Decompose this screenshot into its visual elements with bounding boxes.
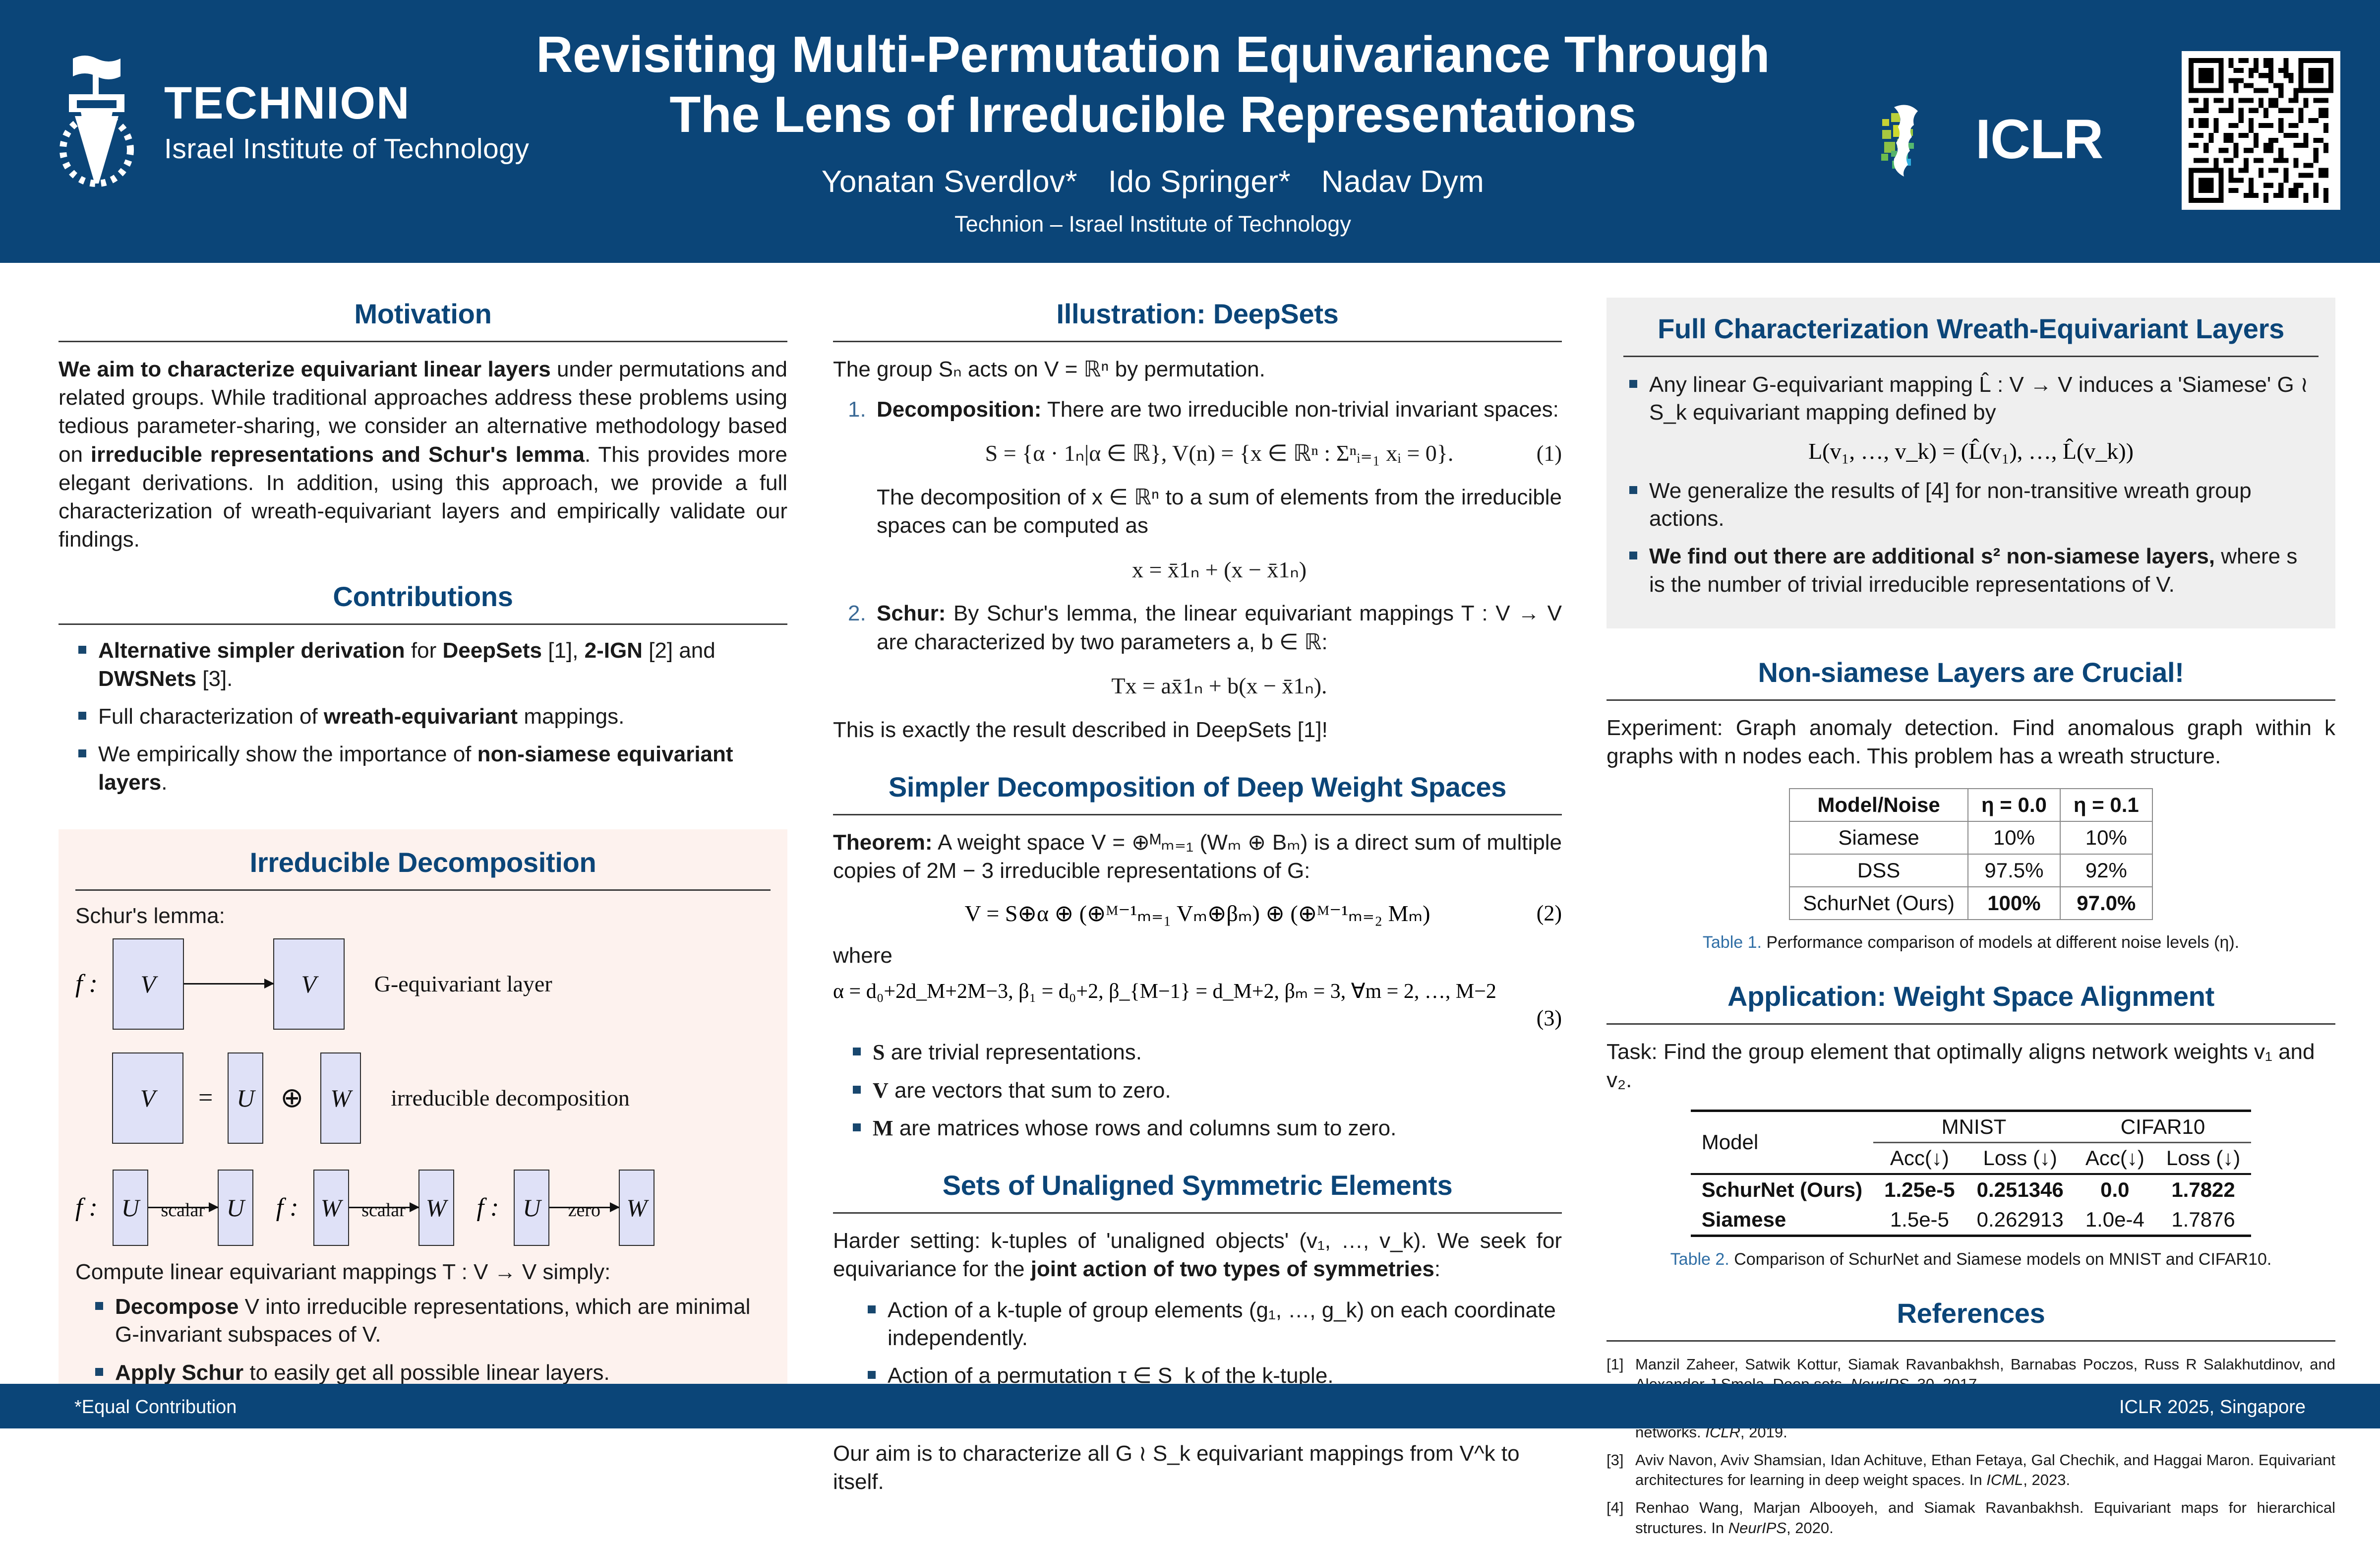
row2-note: irreducible decomposition — [391, 1085, 630, 1111]
cell-value: 97.5% — [1968, 854, 2060, 887]
sub-acc-cifar: Acc(↓) — [2075, 1142, 2155, 1174]
contrib-bold: wreath-equivariant — [324, 704, 518, 729]
contrib-text: . — [161, 770, 167, 795]
box-u: U — [228, 1052, 263, 1144]
reference-item: [4]Renhao Wang, Marjan Albooyeh, and Sia… — [1606, 1498, 2335, 1538]
list-item: We empirically show the importance of no… — [78, 741, 787, 797]
table-2-caption: Table 2. Comparison of SchurNet and Siam… — [1606, 1250, 2335, 1269]
iclr-logo: ICLR — [1874, 99, 2103, 179]
list-item: Schur: By Schur's lemma, the linear equi… — [848, 599, 1562, 700]
simpler-bullets: S are trivial representations. V are vec… — [833, 1039, 1562, 1142]
arrow-label: scalar — [361, 1199, 406, 1221]
contributions-list: Alternative simpler derivation for DeepS… — [59, 637, 787, 797]
theorem-label: Theorem: — [833, 830, 932, 855]
intro-bold: joint action of two types of symmetries — [1031, 1257, 1434, 1281]
sub-loss-cifar: Loss (↓) — [2155, 1142, 2251, 1174]
equation-text: Tx = ax̄1ₙ + b(x − x̄1ₙ). — [1111, 673, 1327, 698]
qr-code[interactable] — [2182, 51, 2340, 210]
bullet-bold: We find out there are additional s² non-… — [1649, 544, 2215, 568]
cell-value: 1.0e-4 — [2075, 1205, 2155, 1236]
cell-value: 10% — [2060, 821, 2152, 854]
equation-1: S = {α · 1ₙ|α ∈ ℝ}, V(n) = {x ∈ ℝⁿ : Σⁿᵢ… — [877, 438, 1562, 468]
list-item: We generalize the results of [4] for non… — [1629, 477, 2319, 533]
section-unaligned: Sets of Unaligned Symmetric Elements Har… — [833, 1169, 1562, 1496]
oplus-icon: ⊕ — [280, 1082, 303, 1114]
unaligned-closing-2: Our aim is to characterize all G ≀ S_k e… — [833, 1439, 1562, 1496]
list-item: V are vectors that sum to zero. — [853, 1077, 1562, 1105]
divider — [833, 341, 1562, 342]
equation-number: (1) — [1537, 439, 1562, 468]
bullet-bold: Apply Schur — [115, 1360, 243, 1385]
deepsets-closing: This is exactly the result described in … — [833, 716, 1562, 744]
f-label: f : — [75, 969, 98, 998]
cell-value: 100% — [1968, 887, 2060, 920]
equation-full-char: L(v₁, …, v_k) = (L̂(v₁), …, L̂(v_k)) — [1623, 438, 2319, 464]
table-weight-alignment: Model MNIST CIFAR10 Acc(↓) Loss (↓) Acc(… — [1691, 1110, 2251, 1237]
col-model-noise: Model/Noise — [1789, 789, 1968, 821]
middle-column: Illustration: DeepSets The group Sₙ acts… — [833, 298, 1562, 1496]
col-eta-01: η = 0.1 — [2060, 789, 2152, 821]
f-label: f : — [75, 1193, 98, 1222]
reference-item: [3]Aviv Navon, Aviv Shamsian, Idan Achit… — [1606, 1450, 2335, 1490]
equation-text: V = S⊕α ⊕ (⊕ᴹ⁻¹ₘ₌₁ Vₘ⊕βₘ) ⊕ (⊕ᴹ⁻¹ₘ₌₂ Mₘ) — [964, 901, 1430, 926]
irreducible-title: Irreducible Decomposition — [75, 846, 771, 878]
right-column: Full Characterization Wreath-Equivariant… — [1606, 298, 2335, 1546]
equation-text: L(v₁, …, v_k) = (L̂(v₁), …, L̂(v_k)) — [1808, 438, 2134, 464]
caption-number: Table 1. — [1703, 933, 1762, 952]
group-mnist: MNIST — [1873, 1111, 2075, 1142]
box-v: V — [112, 1052, 183, 1144]
simpler-title: Simpler Decomposition of Deep Weight Spa… — [833, 771, 1562, 803]
box-v-in: V — [113, 938, 184, 1030]
section-motivation: Motivation We aim to characterize equiva… — [59, 298, 787, 554]
motivation-bold-1: We aim to characterize equivariant linea… — [59, 357, 551, 381]
cell-value: 0.262913 — [1966, 1205, 2075, 1236]
contrib-bold: 2-IGN — [585, 638, 643, 663]
full-char-title: Full Characterization Wreath-Equivariant… — [1623, 312, 2319, 345]
references-title: References — [1606, 1297, 2335, 1329]
cell-value: 97.0% — [2060, 887, 2152, 920]
step-label: Schur: — [877, 601, 946, 625]
divider — [1606, 699, 2335, 701]
application-title: Application: Weight Space Alignment — [1606, 980, 2335, 1012]
equation-4: α = d₀+2d_M+2M−3, β₁ = d₀+2, β_{M−1} = d… — [833, 979, 1562, 1003]
table-row: Siamese 1.5e-5 0.262913 1.0e-4 1.7876 — [1691, 1205, 2251, 1236]
motivation-text: We aim to characterize equivariant linea… — [59, 355, 787, 554]
unaligned-title: Sets of Unaligned Symmetric Elements — [833, 1169, 1562, 1201]
caption-number: Table 2. — [1670, 1250, 1729, 1269]
bullet-symbol: S — [873, 1040, 885, 1064]
table-header-row: Model/Noise η = 0.0 η = 0.1 — [1789, 789, 2152, 821]
box-w: W — [320, 1052, 361, 1144]
bullet-text: to easily get all possible linear layers… — [243, 1360, 610, 1385]
step-text: There are two irreducible non-trivial in… — [1041, 397, 1558, 422]
divider — [59, 623, 787, 625]
group-cifar10: CIFAR10 — [2075, 1111, 2251, 1142]
poster-header: TECHNION Israel Institute of Technology … — [0, 0, 2380, 263]
col-model: Model — [1691, 1111, 1873, 1174]
list-item: M are matrices whose rows and columns su… — [853, 1114, 1562, 1142]
contrib-bold: DWSNets — [98, 667, 196, 691]
cell-value: 1.5e-5 — [1873, 1205, 1965, 1236]
arrow-1 — [184, 969, 273, 999]
ref-text-end: , 2020. — [1786, 1519, 1834, 1537]
cell-value: 1.7822 — [2155, 1174, 2251, 1205]
diagram-row-3: f : U scalar U f : W scalar W f : U — [75, 1170, 771, 1246]
list-item: Full characterization of wreath-equivari… — [78, 703, 787, 731]
ref-venue: ICML — [1986, 1471, 2023, 1488]
section-application: Application: Weight Space Alignment Task… — [1606, 980, 2335, 1269]
cell-value: 0.0 — [2075, 1174, 2155, 1205]
compute-line: Compute linear equivariant mappings T : … — [75, 1258, 771, 1286]
row1-note: G-equivariant layer — [374, 971, 552, 997]
title-line-1: Revisiting Multi-Permutation Equivarianc… — [496, 25, 1810, 85]
contrib-text: [3]. — [196, 667, 233, 691]
irreducible-bullets: Decompose V into irreducible representat… — [75, 1293, 771, 1387]
title-line-2: The Lens of Irreducible Representations — [496, 85, 1810, 145]
author-2: Ido Springer* — [1108, 165, 1291, 199]
bullet-symbol: V — [873, 1078, 889, 1103]
step-label: Decomposition: — [877, 397, 1041, 422]
divider — [833, 814, 1562, 815]
list-item: Alternative simpler derivation for DeepS… — [78, 637, 787, 693]
contrib-text: Full characterization of — [98, 704, 324, 729]
footer-equal-contribution: *Equal Contribution — [74, 1397, 237, 1418]
cell-value: 0.251346 — [1966, 1174, 2075, 1205]
step-text: By Schur's lemma, the linear equivariant… — [877, 601, 1562, 654]
list-item: S are trivial representations. — [853, 1039, 1562, 1066]
table-row: Siamese 10% 10% — [1789, 821, 2152, 854]
unaligned-bullets: Action of a k-tuple of group elements (g… — [833, 1297, 1562, 1390]
cell-value: 10% — [1968, 821, 2060, 854]
equation-1b: x = x̄1ₙ + (x − x̄1ₙ) — [877, 555, 1562, 585]
deepsets-title: Illustration: DeepSets — [833, 298, 1562, 330]
task-text: Task: Find the group element that optima… — [1606, 1038, 2335, 1094]
divider — [59, 341, 787, 342]
list-item: Decompose V into irreducible representat… — [95, 1293, 771, 1349]
iclr-mark-icon — [1874, 99, 1968, 179]
theorem-text: Theorem: A weight space V = ⊕ᴹₘ₌₁ (Wₘ ⊕ … — [833, 828, 1562, 885]
cell-model: SchurNet (Ours) — [1691, 1174, 1873, 1205]
table-row: SchurNet (Ours) 1.25e-5 0.251346 0.0 1.7… — [1691, 1174, 2251, 1205]
contrib-text: [2] and — [643, 638, 715, 663]
full-char-bullets: Any linear G-equivariant mapping L̂ : V … — [1623, 371, 2319, 427]
list-item: We find out there are additional s² non-… — [1629, 543, 2319, 599]
author-list: Yonatan Sverdlov* Ido Springer* Nadav Dy… — [496, 164, 1810, 199]
ref-text: Aviv Navon, Aviv Shamsian, Idan Achituve… — [1635, 1451, 2335, 1488]
cell-model: Siamese — [1691, 1205, 1873, 1236]
bullet-symbol: M — [873, 1116, 893, 1140]
technion-emblem-icon — [47, 55, 146, 188]
box-from: U — [113, 1170, 148, 1246]
box-to: W — [619, 1170, 654, 1246]
title-block: Revisiting Multi-Permutation Equivarianc… — [496, 25, 1810, 237]
equation-number: (2) — [1537, 901, 1562, 926]
equation-number-3: (3) — [833, 1005, 1562, 1031]
footer-conference: ICLR 2025, Singapore — [2119, 1397, 2306, 1418]
divider — [1606, 1023, 2335, 1025]
cell-value: 1.7876 — [2155, 1205, 2251, 1236]
iclr-wordmark: ICLR — [1975, 107, 2103, 171]
box-from: U — [514, 1170, 549, 1246]
arrow-line-icon — [184, 983, 273, 985]
divider — [75, 889, 771, 891]
poster-title: Revisiting Multi-Permutation Equivarianc… — [496, 25, 1810, 144]
deepsets-steps: Decomposition: There are two irreducible… — [833, 395, 1562, 700]
ref-text-end: , 2023. — [2023, 1471, 2070, 1488]
sub-acc-mnist: Acc(↓) — [1873, 1142, 1965, 1174]
list-item: Decomposition: There are two irreducible… — [848, 395, 1562, 584]
list-item: Action of a k-tuple of group elements (g… — [868, 1297, 1562, 1353]
equation-2: Tx = ax̄1ₙ + b(x − x̄1ₙ). — [877, 671, 1562, 701]
motivation-bold-2: irreducible representations and Schur's … — [91, 442, 585, 467]
section-irreducible-decomposition: Irreducible Decomposition Schur's lemma:… — [59, 829, 787, 1414]
list-item: Any linear G-equivariant mapping L̂ : V … — [1629, 371, 2319, 427]
institution-name: TECHNION — [164, 80, 529, 126]
bullet-text: are vectors that sum to zero. — [889, 1078, 1171, 1103]
section-deepsets: Illustration: DeepSets The group Sₙ acts… — [833, 298, 1562, 744]
arrow-scalar-1: scalar — [148, 1190, 218, 1225]
table-row: SchurNet (Ours) 100% 97.0% — [1789, 887, 2152, 920]
contrib-text: We empirically show the importance of — [98, 742, 477, 766]
technion-logo: TECHNION Israel Institute of Technology — [47, 55, 529, 188]
contrib-text: [1], — [542, 638, 585, 663]
ref-venue: NeurIPS — [1728, 1519, 1786, 1537]
equation-text: S = {α · 1ₙ|α ∈ ℝ}, V(n) = {x ∈ ℝⁿ : Σⁿᵢ… — [985, 440, 1454, 466]
caption-text: Comparison of SchurNet and Siamese model… — [1729, 1250, 2272, 1269]
arrow-label: zero — [568, 1199, 600, 1221]
full-char-bullets-2: We generalize the results of [4] for non… — [1623, 477, 2319, 599]
bullet-bold: Decompose — [115, 1295, 238, 1319]
affiliation: Technion – Israel Institute of Technolog… — [496, 211, 1810, 237]
equals-sign: = — [198, 1083, 213, 1113]
box-from: W — [313, 1170, 349, 1246]
cell-model: SchurNet (Ours) — [1789, 887, 1968, 920]
caption-text: Performance comparison of models at diff… — [1762, 933, 2239, 952]
contrib-text: for — [405, 638, 443, 663]
theorem-body: A weight space V = ⊕ᴹₘ₌₁ (Wₘ ⊕ Bₘ) is a … — [833, 830, 1562, 883]
schur-lemma-label: Schur's lemma: — [75, 904, 771, 928]
institution-subtitle: Israel Institute of Technology — [164, 135, 529, 163]
table-noise-performance: Model/Noise η = 0.0 η = 0.1 Siamese 10% … — [1789, 788, 2153, 920]
section-simpler-decomposition: Simpler Decomposition of Deep Weight Spa… — [833, 771, 1562, 1143]
cell-value: 92% — [2060, 854, 2152, 887]
arrow-scalar-2: scalar — [349, 1190, 418, 1225]
reference-list: [1]Manzil Zaheer, Satwik Kottur, Siamak … — [1606, 1355, 2335, 1538]
cell-value: 1.25e-5 — [1873, 1174, 1965, 1205]
deepsets-intro: The group Sₙ acts on V = ℝⁿ by permutati… — [833, 355, 1562, 383]
diagram-row-1: f : V V G-equivariant layer — [75, 938, 771, 1030]
contrib-bold: Alternative simpler derivation — [98, 638, 405, 663]
bullet-text: are trivial representations. — [885, 1040, 1141, 1064]
cell-model: Siamese — [1789, 821, 1968, 854]
divider — [833, 1212, 1562, 1214]
cell-model: DSS — [1789, 854, 1968, 887]
experiment-text: Experiment: Graph anomaly detection. Fin… — [1606, 714, 2335, 770]
irreducible-diagram: f : V V G-equivariant layer V = U ⊕ W ir… — [75, 938, 771, 1246]
divider — [1606, 1340, 2335, 1342]
arrow-label: scalar — [161, 1199, 205, 1221]
unaligned-intro: Harder setting: k-tuples of 'unaligned o… — [833, 1227, 1562, 1283]
table-row: DSS 97.5% 92% — [1789, 854, 2152, 887]
equation-text: α = d₀+2d_M+2M−3, β₁ = d₀+2, β_{M−1} = d… — [833, 980, 1496, 1003]
f-label: f : — [276, 1193, 298, 1222]
contrib-bold: DeepSets — [442, 638, 542, 663]
author-3: Nadav Dym — [1321, 165, 1484, 199]
section-full-characterization: Full Characterization Wreath-Equivariant… — [1606, 298, 2335, 628]
section-crucial: Non-siamese Layers are Crucial! Experime… — [1606, 656, 2335, 952]
equation-3: V = S⊕α ⊕ (⊕ᴹ⁻¹ₘ₌₁ Vₘ⊕βₘ) ⊕ (⊕ᴹ⁻¹ₘ₌₂ Mₘ)… — [833, 900, 1562, 927]
equation-text: x = x̄1ₙ + (x − x̄1ₙ) — [1132, 557, 1307, 582]
contributions-title: Contributions — [59, 580, 787, 613]
where-label: where — [833, 941, 1562, 970]
box-to: W — [418, 1170, 454, 1246]
left-column: Motivation We aim to characterize equiva… — [59, 298, 787, 1414]
table-header-row: Model MNIST CIFAR10 — [1691, 1111, 2251, 1142]
crucial-title: Non-siamese Layers are Crucial! — [1606, 656, 2335, 688]
ref-number: [3] — [1606, 1450, 1635, 1490]
sub-loss-mnist: Loss (↓) — [1966, 1142, 2075, 1174]
f-label: f : — [477, 1193, 499, 1222]
table-1-caption: Table 1. Performance comparison of model… — [1606, 933, 2335, 952]
section-contributions: Contributions Alternative simpler deriva… — [59, 580, 787, 797]
arrow-zero: zero — [549, 1190, 619, 1225]
diagram-row-2: V = U ⊕ W irreducible decomposition — [112, 1052, 771, 1144]
col-eta-0: η = 0.0 — [1968, 789, 2060, 821]
list-item: Apply Schur to easily get all possible l… — [95, 1359, 771, 1387]
contrib-text: mappings. — [518, 704, 624, 729]
author-1: Yonatan Sverdlov* — [822, 165, 1077, 199]
step-after-text: The decomposition of x ∈ ℝⁿ to a sum of … — [877, 483, 1562, 540]
ref-number: [4] — [1606, 1498, 1635, 1538]
divider — [1623, 356, 2319, 357]
poster-footer: *Equal Contribution ICLR 2025, Singapore — [0, 1384, 2380, 1428]
motivation-title: Motivation — [59, 298, 787, 330]
intro-part-2: : — [1434, 1257, 1440, 1281]
bullet-text: are matrices whose rows and columns sum … — [893, 1116, 1397, 1140]
box-to: U — [218, 1170, 253, 1246]
box-v-out: V — [273, 938, 345, 1030]
